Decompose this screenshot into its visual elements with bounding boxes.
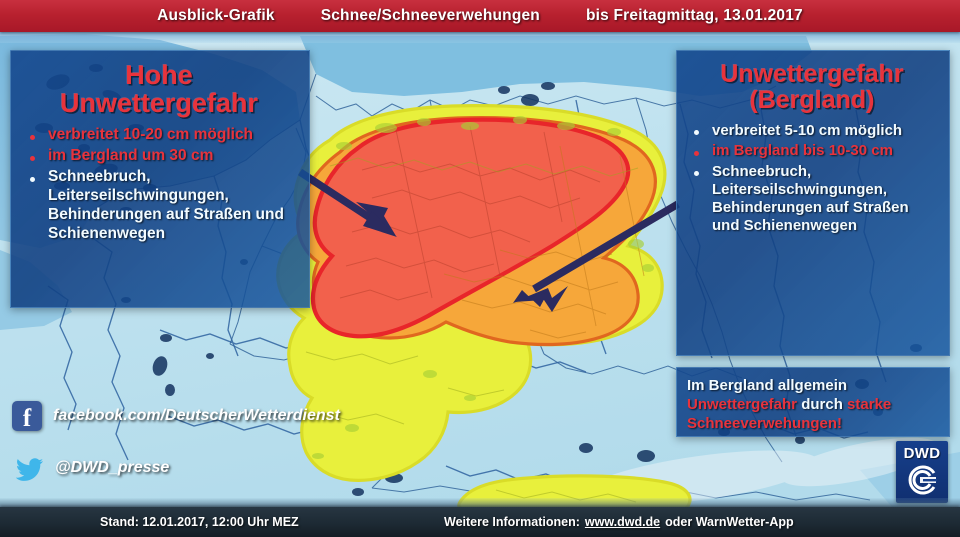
header-item-1: Schnee/Schneeverwehungen <box>321 7 540 25</box>
note-seg-1: Im Bergland allgemein <box>687 377 847 394</box>
social-row-twitter[interactable]: @DWD_presse <box>12 448 340 488</box>
panel-right-title-line2: (Bergland) <box>685 87 939 113</box>
panel-left-bullets: verbreitet 10-20 cm möglich im Bergland … <box>21 126 297 243</box>
banner-glow-bottom <box>0 498 960 507</box>
footer-banner: Stand: 12.01.2017, 12:00 Uhr MEZ Weitere… <box>0 507 960 537</box>
panel-right-bullet-2: Schneebruch, Leiterseilschwingungen, Beh… <box>685 163 939 236</box>
header-item-2: bis Freitagmittag, 13.01.2017 <box>586 7 803 25</box>
panel-right-title-line1: Unwettergefahr <box>720 60 903 88</box>
panel-right-bullet-1: im Bergland bis 10-30 cm <box>685 142 939 160</box>
panel-left-bullet-1: im Bergland um 30 cm <box>21 147 297 166</box>
note-seg-2-highlight: Unwettergefahr <box>687 396 797 413</box>
panel-right-bullets: verbreitet 5-10 cm möglich im Bergland b… <box>685 122 939 236</box>
panel-right-title: Unwettergefahr (Bergland) <box>685 61 939 113</box>
footer-info-prefix: Weitere Informationen: <box>444 515 580 529</box>
panel-left-title: Hohe Unwettergefahr <box>21 61 297 117</box>
note-seg-3: durch <box>797 396 847 413</box>
social-row-facebook[interactable]: f facebook.com/DeutscherWetterdienst <box>12 396 340 436</box>
twitter-bird-icon[interactable] <box>12 455 44 481</box>
facebook-label[interactable]: facebook.com/DeutscherWetterdienst <box>53 407 340 425</box>
twitter-label[interactable]: @DWD_presse <box>55 459 169 477</box>
footer-timestamp: Stand: 12.01.2017, 12:00 Uhr MEZ <box>100 515 299 529</box>
arrow-to-orange-zone <box>513 204 678 312</box>
footer-info: Weitere Informationen: www.dwd.de oder W… <box>444 515 794 529</box>
header-banner: Ausblick-Grafik Schnee/Schneeverwehungen… <box>0 0 960 32</box>
dwd-logo-text: DWD <box>904 445 941 462</box>
dwd-spiral-icon <box>904 463 940 502</box>
panel-mountain-warning: Unwettergefahr (Bergland) verbreitet 5-1… <box>676 50 950 356</box>
dwd-logo: DWD <box>896 441 948 503</box>
panel-left-bullet-0: verbreitet 10-20 cm möglich <box>21 126 297 145</box>
footer-info-link[interactable]: www.dwd.de <box>585 515 660 529</box>
panel-left-title-line2: Unwettergefahr <box>21 89 297 117</box>
panel-note-text: Im Bergland allgemein Unwettergefahr dur… <box>687 376 939 434</box>
header-item-0: Ausblick-Grafik <box>157 7 275 25</box>
facebook-icon[interactable]: f <box>12 401 42 431</box>
footer-info-suffix: oder WarnWetter-App <box>665 515 793 529</box>
panel-left-title-line1: Hohe <box>125 60 193 90</box>
banner-glow-top <box>0 32 960 43</box>
panel-right-bullet-0: verbreitet 5-10 cm möglich <box>685 122 939 140</box>
weather-graphic: Ausblick-Grafik Schnee/Schneeverwehungen… <box>0 0 960 537</box>
social-links: f facebook.com/DeutscherWetterdienst @DW… <box>12 396 340 488</box>
panel-high-warning: Hohe Unwettergefahr verbreitet 10-20 cm … <box>10 50 310 308</box>
panel-left-bullet-2: Schneebruch, Leiterseilschwingungen, Beh… <box>21 168 297 244</box>
arrow-to-red-zone <box>300 172 397 237</box>
panel-mountain-note: Im Bergland allgemein Unwettergefahr dur… <box>676 367 950 437</box>
